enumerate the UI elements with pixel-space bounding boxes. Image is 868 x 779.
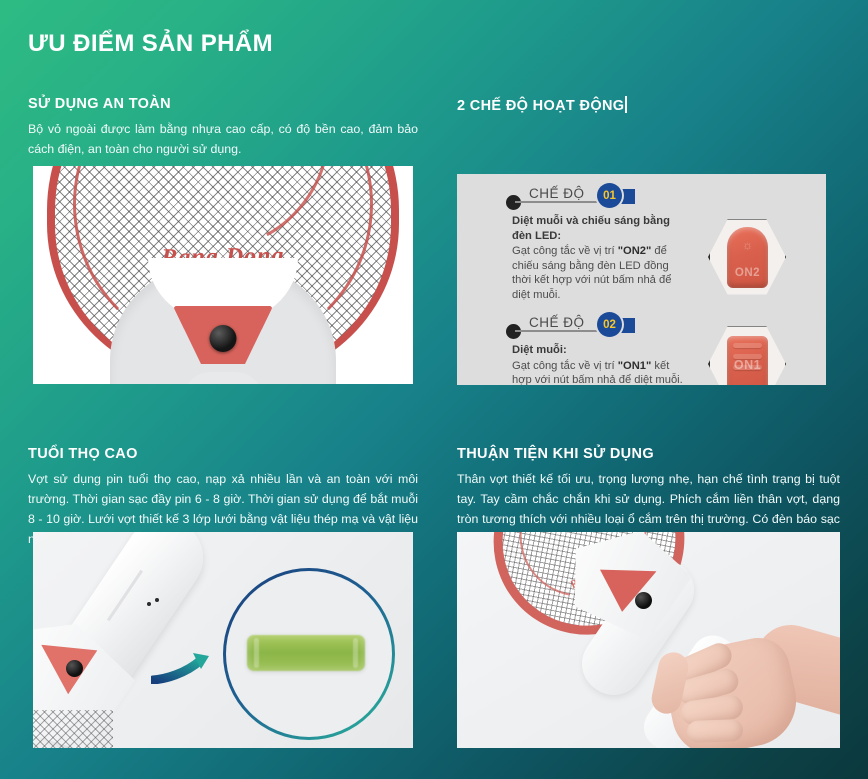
section-title-two-modes-text: 2 CHẾ ĐỘ HOẠT ĐỘNG	[457, 98, 624, 114]
text-cursor-icon	[625, 96, 627, 113]
page-title: ƯU ĐIỂM SẢN PHẨM	[28, 30, 273, 58]
switch-dome: ☼ ON2	[727, 227, 768, 288]
section-safe-use: SỬ DỤNG AN TOÀN Bộ vỏ ngoài được làm bằn…	[28, 96, 418, 159]
switch-rib	[733, 343, 762, 348]
mode-number-badge-02: 02	[597, 312, 622, 337]
mode-number-badge-01: 01	[597, 183, 622, 208]
racket-power-button	[66, 660, 83, 677]
mode-block-02: CHẾ ĐỘ 02 Diệt muỗi: Gạt công tắc về vị …	[457, 311, 826, 341]
mode-heading-02: Diệt muỗi:	[512, 343, 690, 358]
mode-panel: CHẾ ĐỘ 01 Diệt muỗi và chiếu sáng bằng đ…	[457, 174, 826, 385]
mode-switch-value-01: "ON2"	[618, 245, 652, 257]
switch-dome: ON1	[727, 336, 768, 385]
mode-body-01: Diệt muỗi và chiếu sáng bằng đèn LED: Gạ…	[512, 214, 690, 302]
mode-switch-value-02: "ON1"	[618, 360, 652, 372]
indicator-led-icon	[155, 598, 159, 602]
switch-image-on1: ON1	[708, 325, 786, 385]
racket-power-button	[210, 325, 237, 352]
mode-text-02: Gạt công tắc về vị trí "ON1" kết hợp với…	[512, 359, 690, 386]
mode-heading-01: Diệt muỗi và chiếu sáng bằng đèn LED:	[512, 214, 690, 243]
racket-power-button	[635, 592, 652, 609]
section-title-two-modes: 2 CHẾ ĐỘ HOẠT ĐỘNG	[457, 96, 840, 114]
mode-header-01: CHẾ ĐỘ 01	[457, 182, 826, 212]
indicator-led-icon	[147, 602, 151, 606]
section-title-safe-use: SỬ DỤNG AN TOÀN	[28, 96, 418, 112]
section-two-modes: 2 CHẾ ĐỘ HOẠT ĐỘNG	[457, 96, 840, 114]
racket-mesh	[33, 710, 113, 748]
finger	[687, 719, 744, 743]
switch-image-on2: ☼ ON2	[708, 218, 786, 296]
mode-text-01-before: Gạt công tắc về vị trí	[512, 245, 618, 257]
mode-body-02: Diệt muỗi: Gạt công tắc về vị trí "ON1" …	[512, 343, 690, 385]
mode-label-02: CHẾ ĐỘ	[529, 315, 585, 330]
switch-label-on1: ON1	[727, 358, 768, 372]
photo-racket-head: Rang Dong	[33, 166, 413, 384]
racket-assembly: Rang Dong	[457, 532, 840, 748]
switch-led-glyph-icon: ☼	[742, 238, 753, 252]
switch-label-on2: ON2	[727, 267, 768, 279]
page-title-text: ƯU ĐIỂM SẢN PHẨM	[28, 30, 273, 57]
section-body-safe-use: Bộ vỏ ngoài được làm bằng nhựa cao cấp, …	[28, 119, 418, 159]
photo-battery-callout	[33, 532, 413, 748]
callout-arrow-icon	[151, 650, 217, 684]
section-title-convenient: THUẬN TIỆN KHI SỬ DỤNG	[457, 446, 840, 462]
mode-block-01: CHẾ ĐỘ 01 Diệt muỗi và chiếu sáng bằng đ…	[457, 182, 826, 212]
mode-text-01: Gạt công tắc về vị trí "ON2" để chiếu sá…	[512, 244, 690, 302]
photo-hand-holding-racket: Rang Dong	[457, 532, 840, 748]
section-title-long-life: TUỔI THỌ CAO	[28, 446, 418, 462]
battery-cell-image	[247, 635, 365, 671]
mode-text-02-before: Gạt công tắc về vị trí	[512, 360, 618, 372]
mode-label-01: CHẾ ĐỘ	[529, 186, 585, 201]
